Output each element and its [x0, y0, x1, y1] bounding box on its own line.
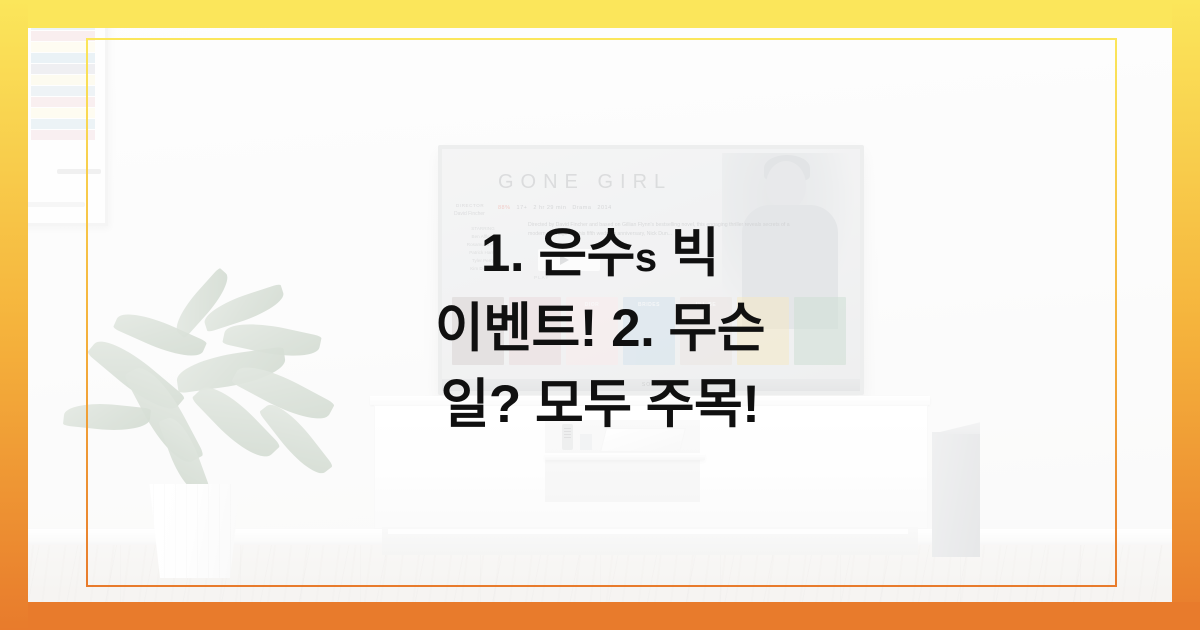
art-stripe — [31, 75, 95, 85]
art-stripe — [31, 42, 95, 52]
tv-movie-title: GONE GIRL — [498, 171, 672, 194]
screenshot-canvas: GONE GIRL 88% 17+ 2 hr 29 min Drama 2014… — [0, 0, 1200, 630]
art-stripe — [31, 108, 95, 118]
headline-line: 이벤트! 2. 무슨 — [300, 291, 900, 366]
art-stripe — [31, 86, 95, 96]
headline-suffix-s: s — [635, 236, 657, 280]
art-signature — [57, 169, 101, 174]
framed-wall-art — [14, 0, 108, 226]
tv-director-label: DIRECTOR — [456, 203, 484, 208]
tv-meta-row: 88% 17+ 2 hr 29 min Drama 2014 — [498, 205, 612, 211]
cabinet-plinth-lip — [388, 529, 908, 534]
art-stripes — [31, 0, 95, 157]
art-stripe — [31, 53, 95, 63]
art-stripe — [31, 119, 95, 129]
headline-text: 1. 은수s 빅이벤트! 2. 무슨일? 모두 주목! — [0, 216, 1200, 442]
tv-genre: Drama — [572, 205, 591, 211]
tv-score: 88% — [498, 205, 511, 211]
art-stripe — [31, 130, 95, 140]
art-stripe — [31, 20, 95, 30]
plant-pot — [142, 484, 248, 578]
cabinet-shelf — [545, 453, 705, 460]
headline-line: 일? 모두 주목! — [300, 367, 900, 442]
tower-speaker — [932, 432, 980, 557]
art-stripe — [31, 97, 95, 107]
tv-rating: 17+ — [517, 205, 528, 211]
art-stripe — [31, 9, 95, 19]
tv-year: 2014 — [597, 205, 611, 211]
tv-runtime: 2 hr 29 min — [533, 205, 566, 211]
art-stripe — [31, 0, 95, 8]
art-stripe — [31, 64, 95, 74]
headline-line: 1. 은수s 빅 — [300, 216, 900, 291]
art-caption-line — [25, 202, 85, 207]
art-stripe — [31, 31, 95, 41]
